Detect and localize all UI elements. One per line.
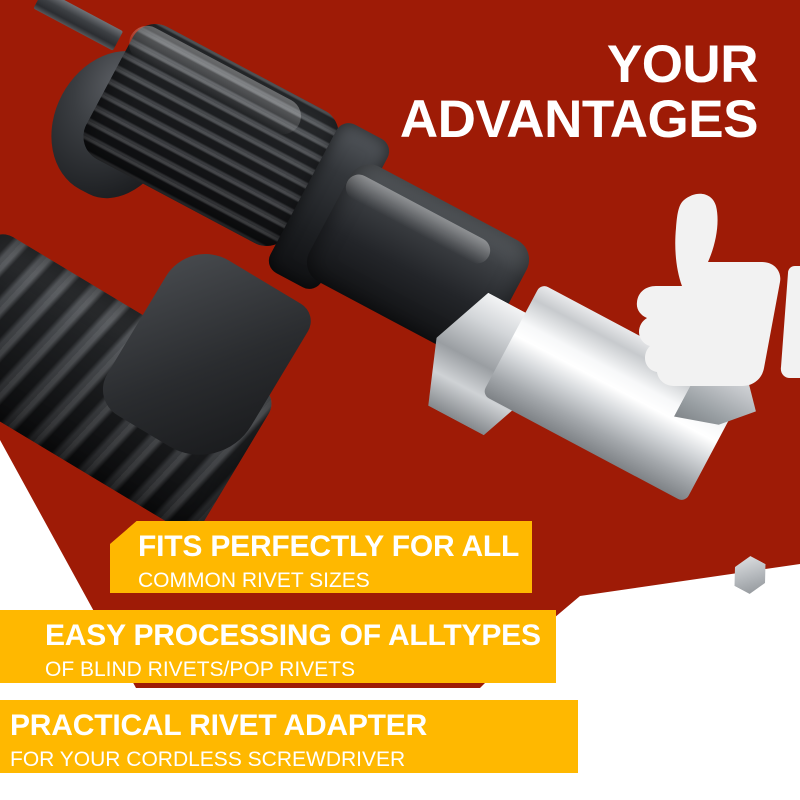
headline-line-2: ADVANTAGES bbox=[288, 93, 758, 148]
feature-banner-3-title: PRACTICAL RIVET ADAPTER bbox=[10, 711, 578, 741]
product-advertisement: YOUR ADVANTAGES FITS PERFECTLY FOR ALL C… bbox=[0, 0, 800, 800]
feature-banner-2: EASY PROCESSING OF ALLTYPES OF BLIND RIV… bbox=[0, 610, 556, 683]
feature-banner-3-subtitle: FOR YOUR CORDLESS SCREWDRIVER bbox=[10, 749, 578, 770]
headline-line-1: YOUR bbox=[288, 38, 758, 93]
feature-banner-2-title: EASY PROCESSING OF ALLTYPES bbox=[45, 621, 556, 651]
feature-banner-1-subtitle: COMMON RIVET SIZES bbox=[138, 570, 532, 591]
feature-banner-1-title: FITS PERFECTLY FOR ALL bbox=[138, 532, 532, 562]
feature-banner-1: FITS PERFECTLY FOR ALL COMMON RIVET SIZE… bbox=[110, 521, 532, 593]
page-title: YOUR ADVANTAGES bbox=[288, 38, 758, 147]
thumbs-up-icon bbox=[612, 178, 800, 393]
feature-banner-2-subtitle: OF BLIND RIVETS/POP RIVETS bbox=[45, 659, 556, 680]
feature-banner-3: PRACTICAL RIVET ADAPTER FOR YOUR CORDLES… bbox=[0, 700, 578, 773]
